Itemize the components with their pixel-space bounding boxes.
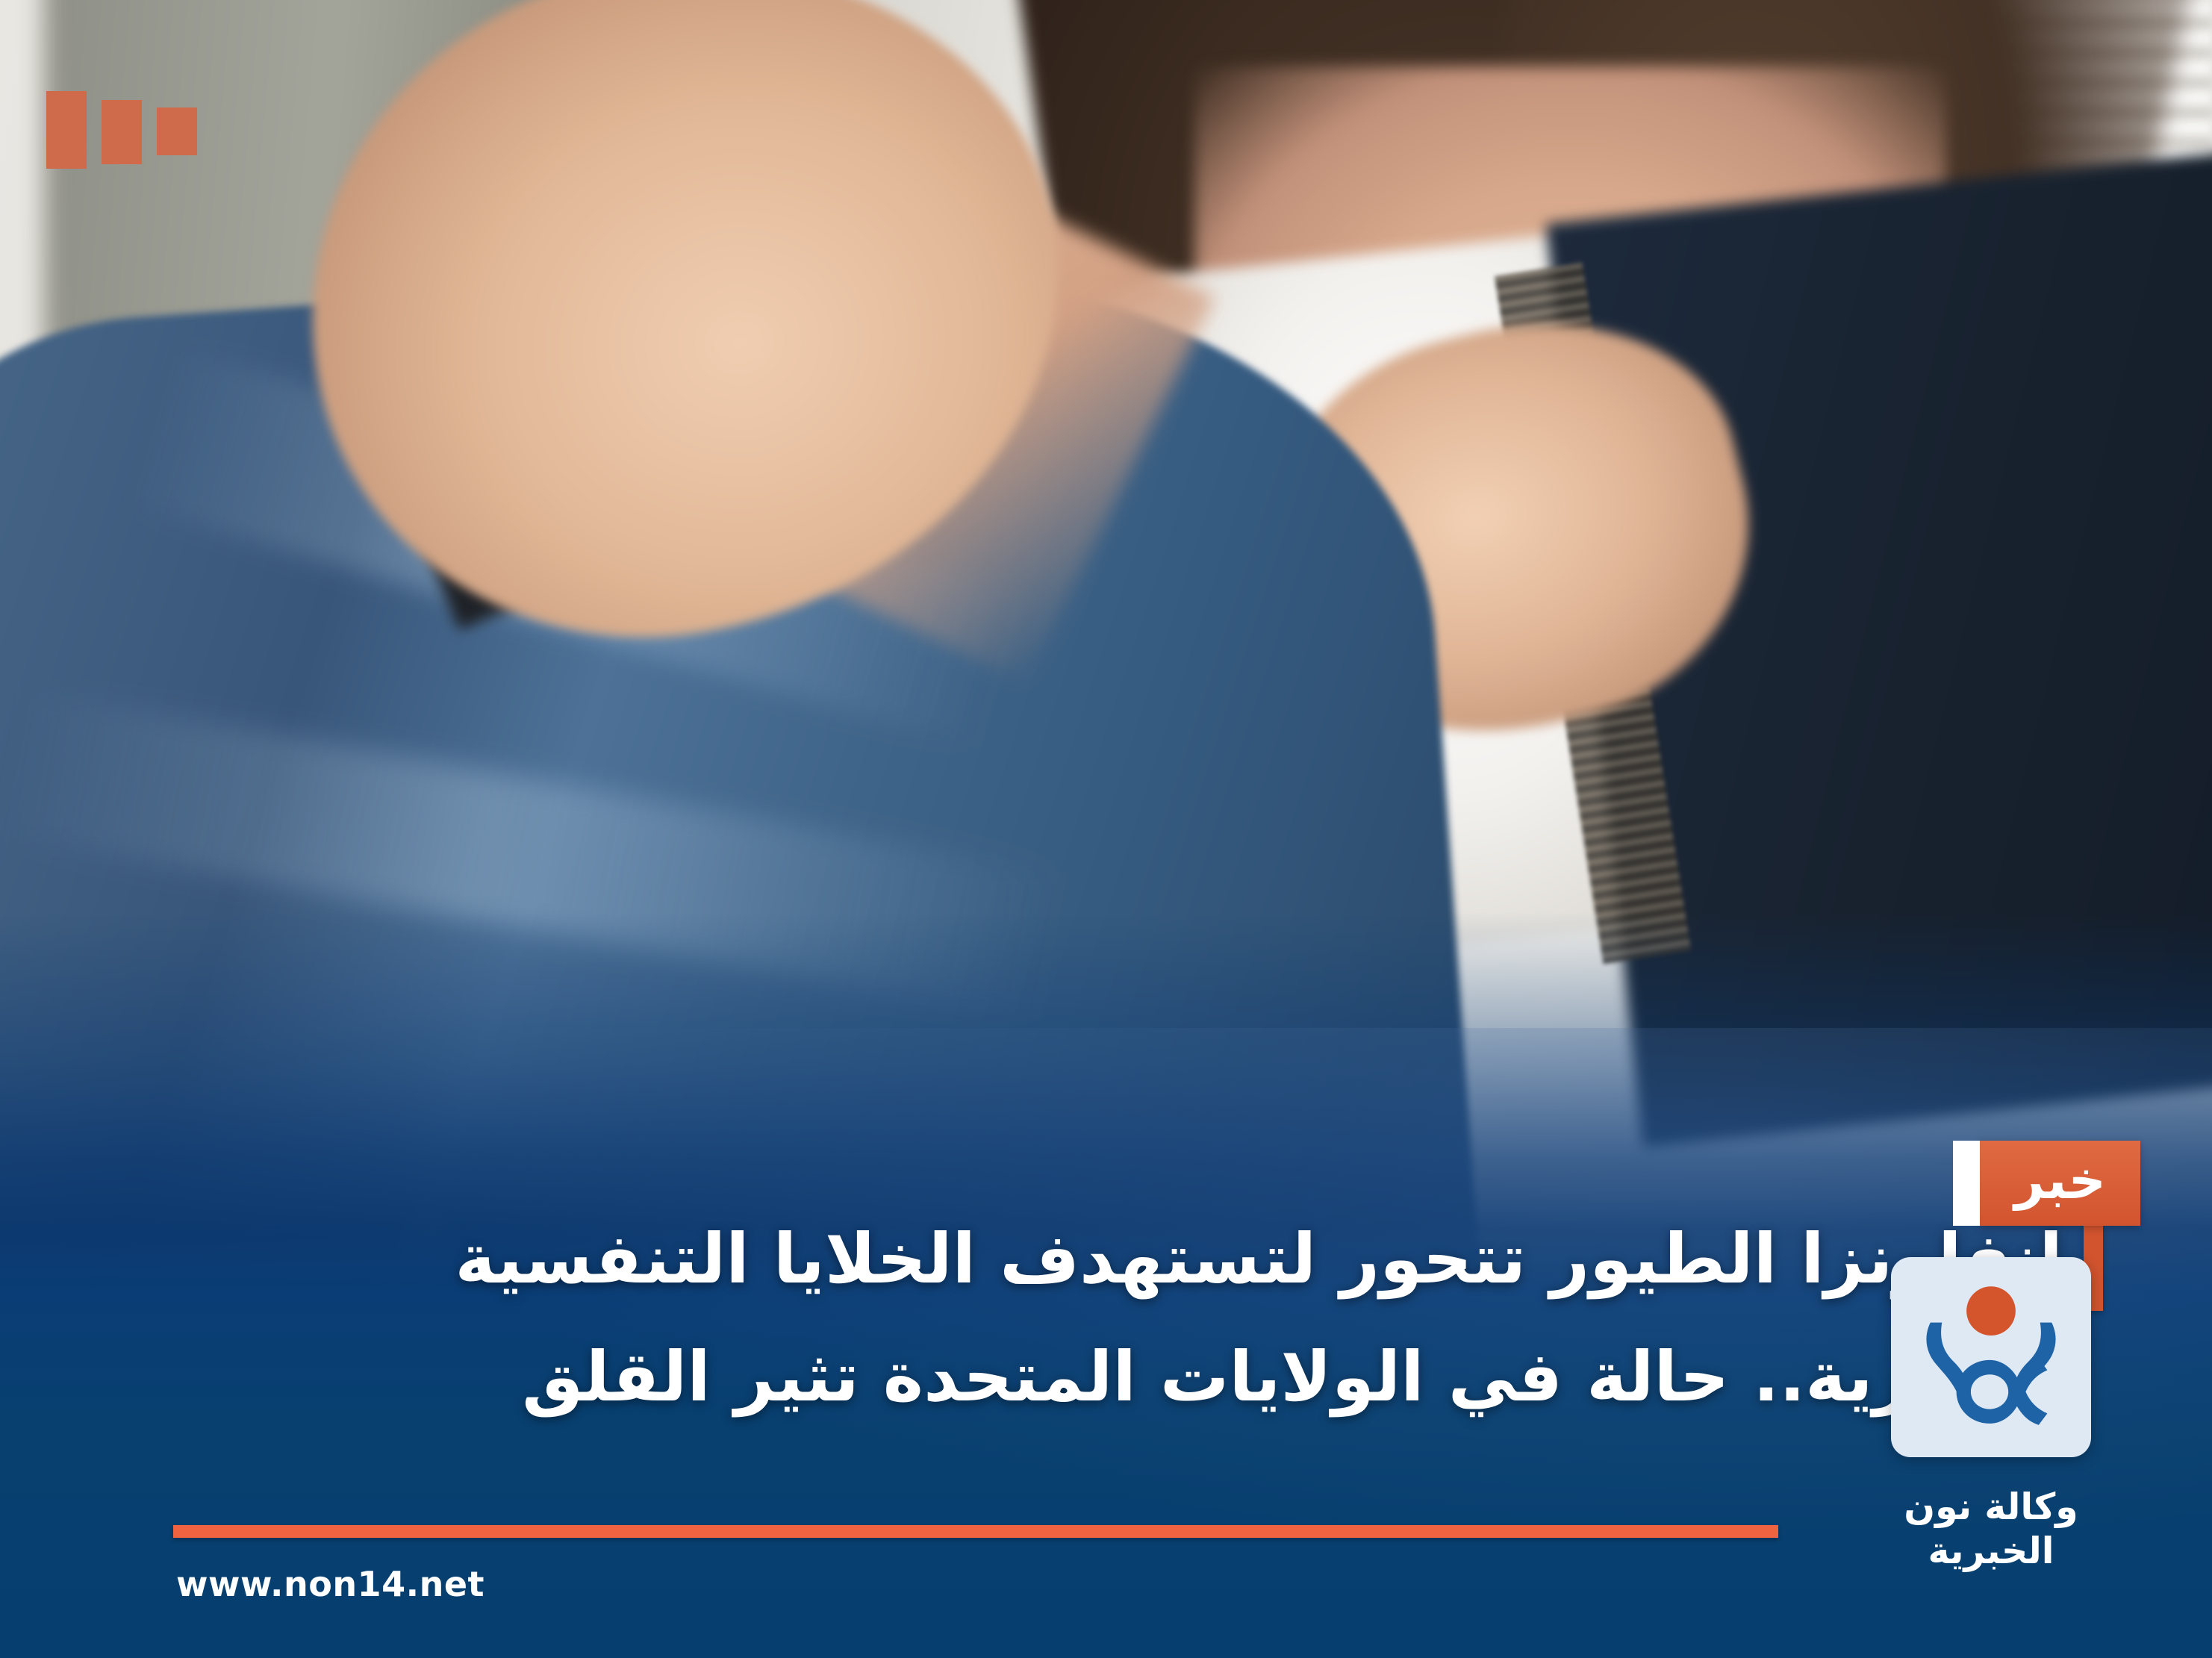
mark-bar-3 — [157, 107, 197, 155]
agency-name: وكالة نون الخبرية — [1842, 1486, 2140, 1574]
news-card: إنفلونزا الطيور تتحور لتستهدف الخلايا ال… — [0, 0, 2212, 1658]
footer-divider — [173, 1525, 1778, 1538]
website-url: www.non14.net — [176, 1564, 485, 1604]
mark-bar-1 — [46, 91, 87, 169]
news-badge-tab — [1953, 1141, 1980, 1226]
noon-agency-logo-icon — [1891, 1257, 2091, 1457]
headline-line-2: البشرية.. حالة في الولايات المتحدة تثير … — [398, 1318, 2063, 1436]
news-badge-label: خبر — [1980, 1141, 2140, 1226]
three-bars-mark-icon — [46, 91, 197, 169]
news-badge: خبر — [1919, 1141, 2140, 1226]
brand-column: خبر وكالة نون الخبرية — [1842, 1141, 2140, 1574]
headline: إنفلونزا الطيور تتحور لتستهدف الخلايا ال… — [398, 1200, 2063, 1436]
mark-bar-2 — [102, 100, 142, 164]
headline-line-1: إنفلونزا الطيور تتحور لتستهدف الخلايا ال… — [398, 1200, 2063, 1318]
